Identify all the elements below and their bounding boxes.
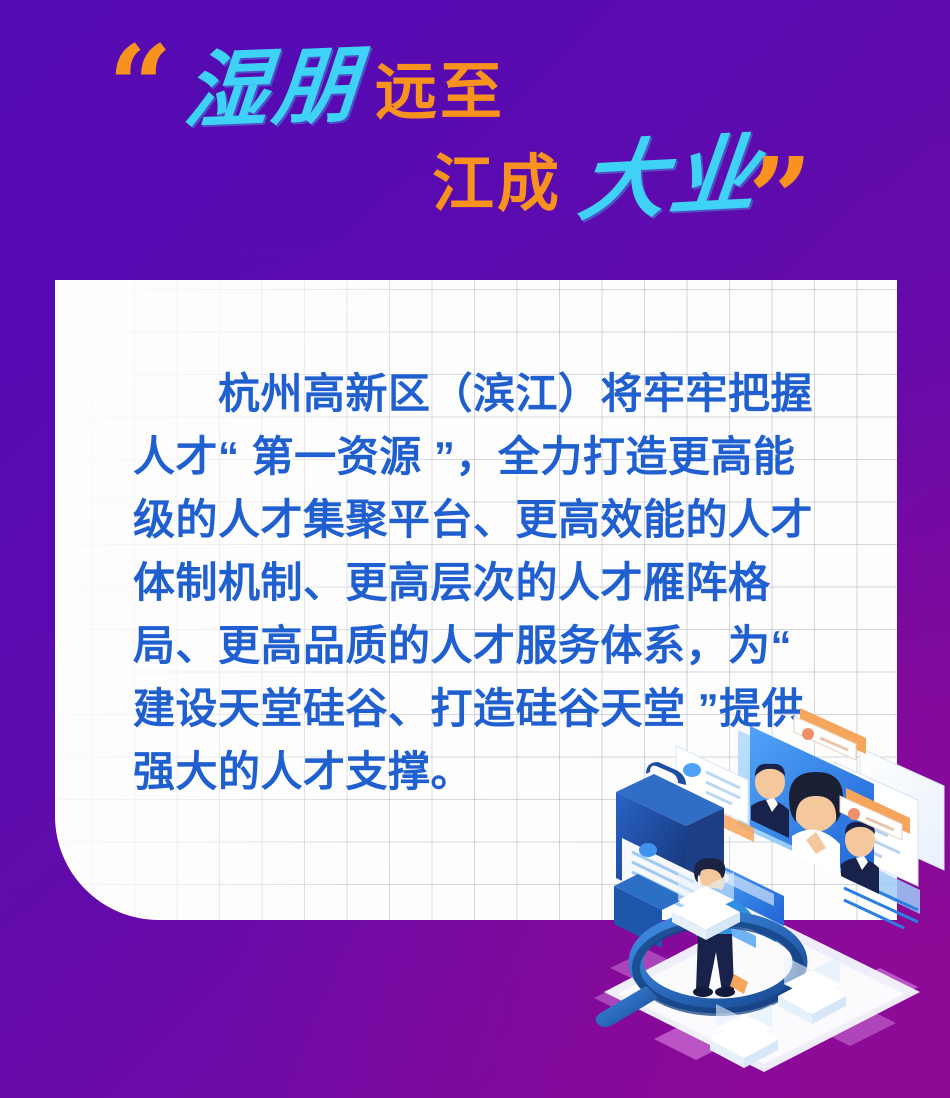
- poster-title: “ 湿朋 远至 江成 大业 ”: [0, 0, 950, 258]
- quote-close-icon: ”: [748, 160, 810, 241]
- title-line-2: 江成 大业: [432, 136, 760, 222]
- poster-root: “ 湿朋 远至 江成 大业 ” 杭州高新区（滨江）将牢牢把握人才“ 第一资源 ”…: [0, 0, 950, 1098]
- title-line2-brush-text: 大业: [575, 131, 765, 226]
- title-line2-plain-text: 江成: [432, 154, 562, 216]
- title-line1-brush-text: 湿朋: [181, 43, 365, 134]
- title-line-1: 湿朋 远至: [185, 46, 505, 130]
- title-line1-plain-text: 远至: [375, 62, 505, 124]
- quote-open-icon: “: [108, 48, 170, 129]
- isometric-recruitment-illustration: [588, 700, 948, 1080]
